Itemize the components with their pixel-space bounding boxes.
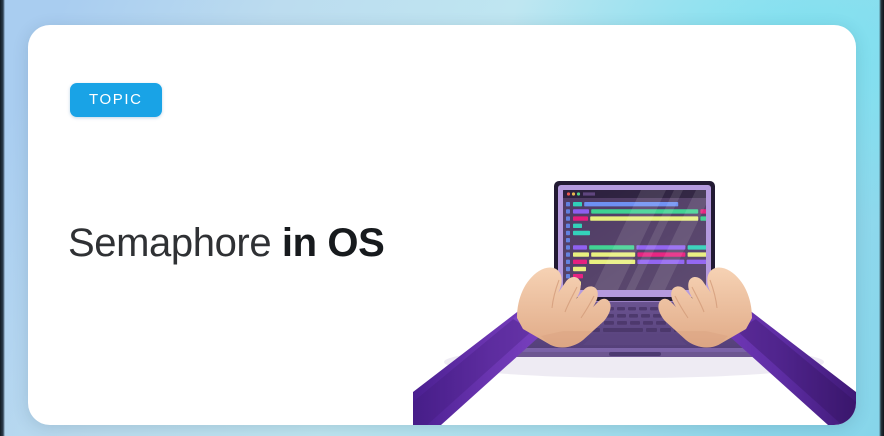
right-edge-strip (879, 0, 884, 436)
page-title-bold: in OS (282, 221, 384, 265)
content-card: TOPIC Semaphore in OS (28, 25, 856, 425)
slide-root: TOPIC Semaphore in OS (0, 0, 884, 436)
laptop-latch-notch (609, 352, 661, 356)
page-title: Semaphore in OS (68, 221, 384, 266)
code-token-block (718, 216, 764, 220)
code-token-block (721, 209, 765, 213)
page-title-regular: Semaphore (68, 221, 271, 265)
topic-badge: TOPIC (70, 83, 162, 117)
left-edge-strip (0, 0, 5, 436)
trackpad (583, 334, 687, 345)
laptop-typing-illustration (413, 130, 856, 425)
